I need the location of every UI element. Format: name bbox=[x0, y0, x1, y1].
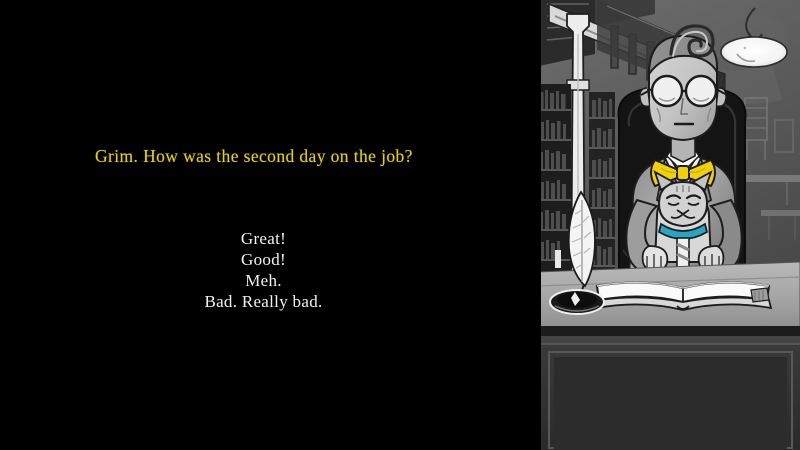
dialogue-choice-3[interactable]: Meh. bbox=[0, 270, 527, 291]
desk-front-panel bbox=[537, 326, 800, 450]
dialogue-choice-2[interactable]: Good! bbox=[0, 249, 527, 270]
dialogue-choice-list: Great! Good! Meh. Bad. Really bad. bbox=[0, 228, 527, 312]
scene-illustration bbox=[537, 0, 800, 450]
game-screen: Grim. How was the second day on the job?… bbox=[0, 0, 800, 450]
dialogue-choice-1[interactable]: Great! bbox=[0, 228, 527, 249]
dialogue-prompt: Grim. How was the second day on the job? bbox=[95, 146, 413, 167]
dialogue-choice-4[interactable]: Bad. Really bad. bbox=[0, 291, 527, 312]
inkwell bbox=[550, 290, 604, 314]
dialogue-panel: Grim. How was the second day on the job?… bbox=[0, 0, 537, 450]
